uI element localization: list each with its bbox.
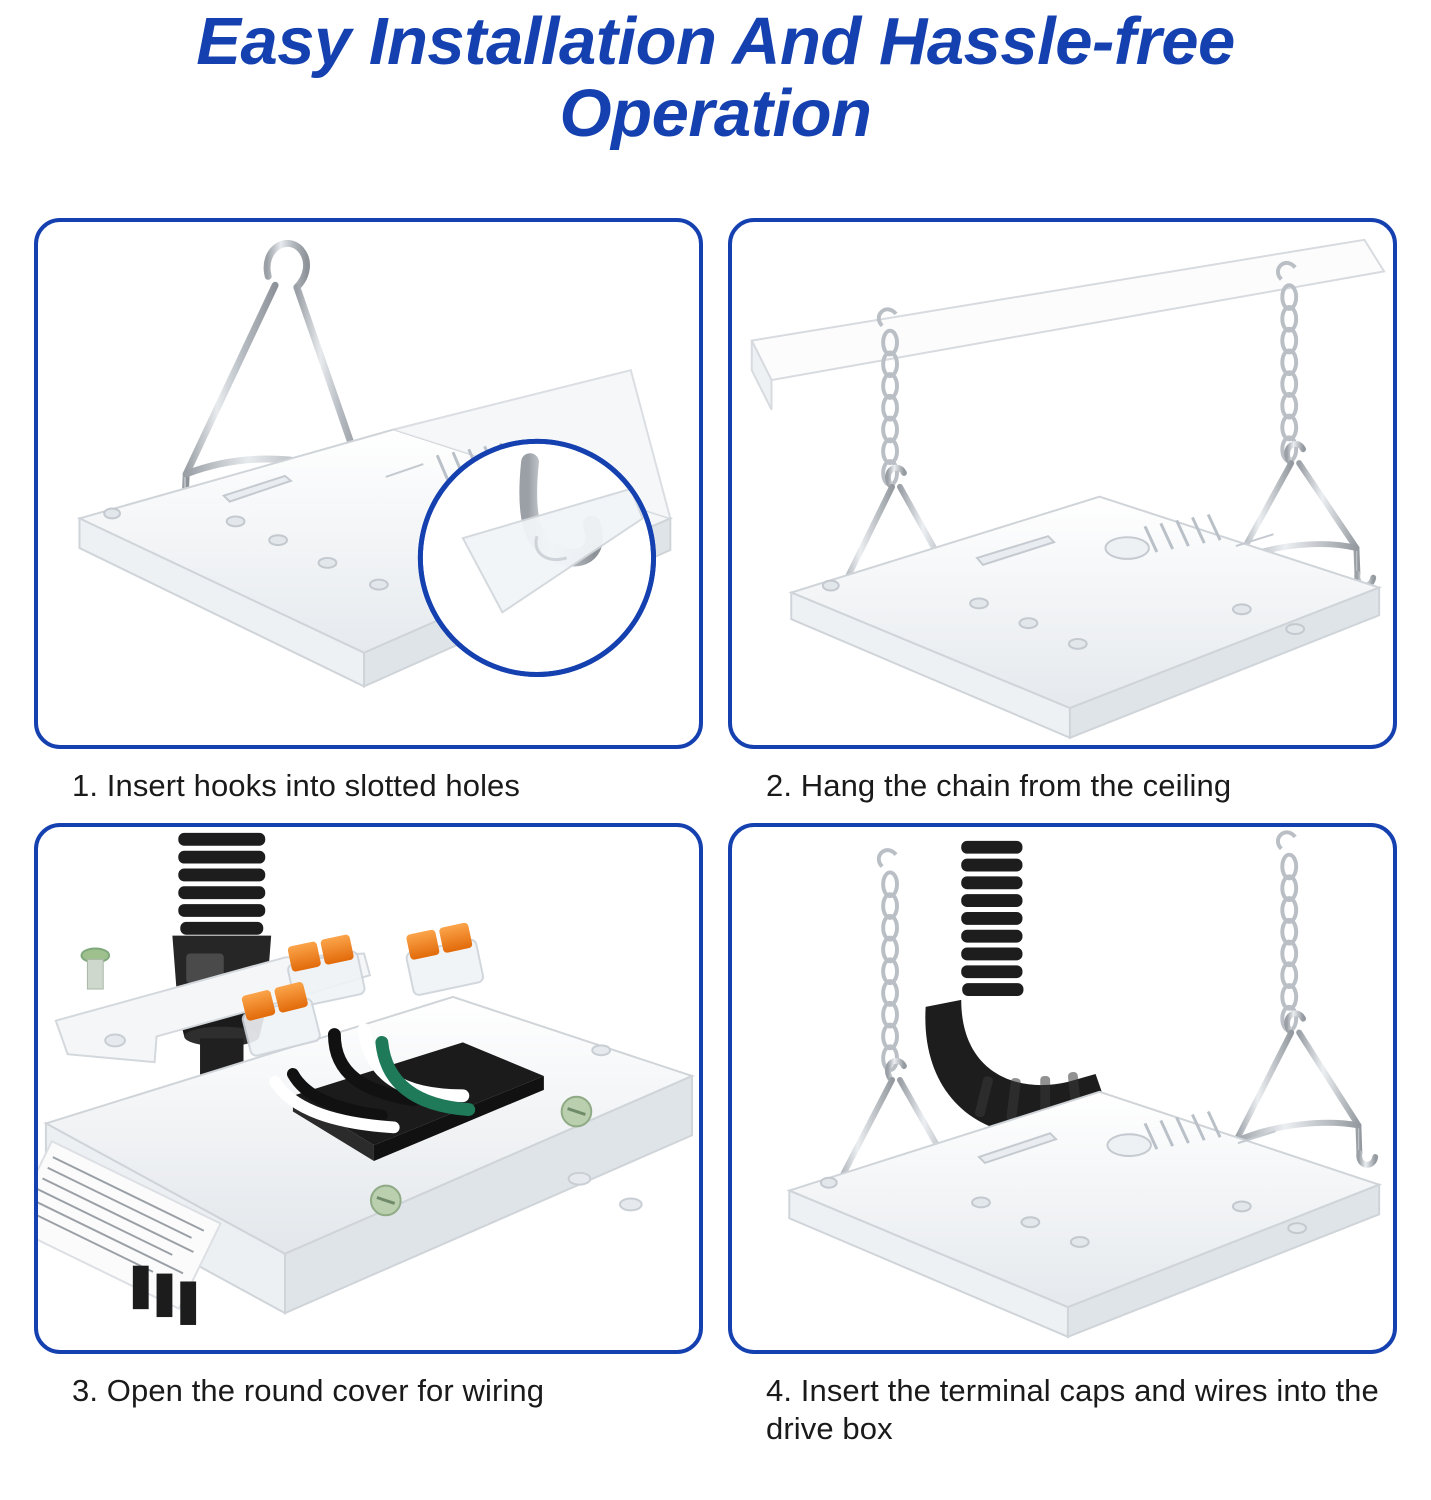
step-1-caption: 1. Insert hooks into slotted holes — [34, 749, 703, 805]
step-3-caption: 3. Open the round cover for wiring — [34, 1354, 703, 1410]
step-1-cell: 1. Insert hooks into slotted holes — [34, 218, 703, 805]
step-4-illustration — [732, 827, 1393, 1352]
step-3-cell: 3. Open the round cover for wiring — [34, 823, 703, 1448]
step-3-illustration — [38, 827, 699, 1352]
installation-steps-grid: 1. Insert hooks into slotted holes — [34, 218, 1397, 1447]
step-2-cell: 2. Hang the chain from the ceiling — [728, 218, 1397, 805]
step-4-caption: 4. Insert the terminal caps and wires in… — [728, 1354, 1397, 1448]
step-2-illustration — [732, 222, 1393, 747]
step-3-panel — [34, 823, 703, 1354]
headline-line-2: Operation — [20, 78, 1411, 150]
step-2-panel — [728, 218, 1397, 749]
step-1-illustration — [38, 222, 699, 747]
step-4-panel — [728, 823, 1397, 1354]
page-title: Easy Installation And Hassle-free Operat… — [0, 0, 1431, 151]
step-2-caption: 2. Hang the chain from the ceiling — [728, 749, 1397, 805]
step-1-panel — [34, 218, 703, 749]
headline-line-1: Easy Installation And Hassle-free — [196, 4, 1235, 79]
step-4-cell: 4. Insert the terminal caps and wires in… — [728, 823, 1397, 1448]
